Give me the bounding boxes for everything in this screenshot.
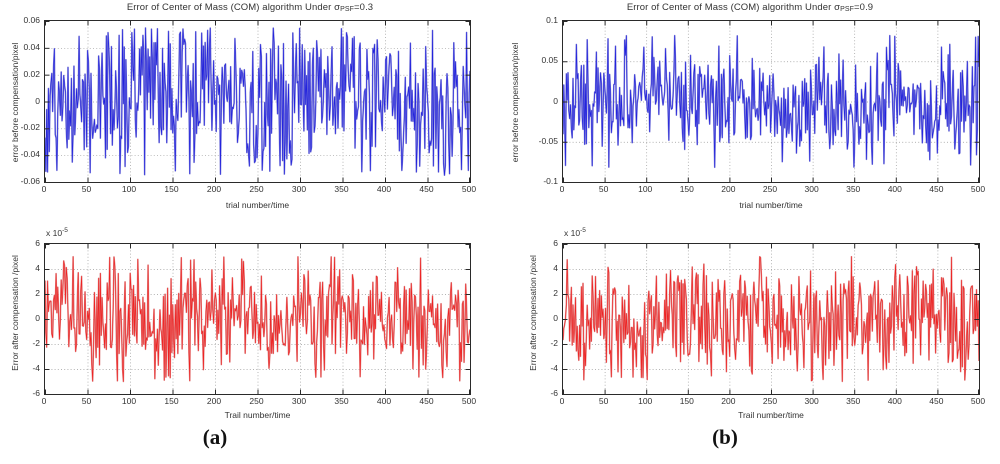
multiplier-exponent: -5 <box>580 227 586 234</box>
x-axis-label: trial number/time <box>562 200 980 210</box>
x-axis-label: Trail number/time <box>562 410 980 420</box>
plot-title: Error of Center of Mass (COM) algorithm … <box>500 2 1000 13</box>
y-tick-label: 0 <box>520 96 558 106</box>
y-tick-label: 4 <box>520 263 558 273</box>
y-tick-label: -4 <box>2 363 40 373</box>
plot-axes <box>562 243 980 395</box>
x-tick-label: 250 <box>249 396 263 406</box>
x-tick-label: 0 <box>42 396 47 406</box>
y-tick-label: -0.02 <box>2 122 40 132</box>
x-tick-label: 500 <box>462 184 476 194</box>
x-tick-label: 200 <box>721 184 735 194</box>
panel-top-left: Error of Center of Mass (COM) algorithm … <box>0 0 500 215</box>
x-axis-label: Trail number/time <box>44 410 471 420</box>
x-tick-label: 300 <box>292 184 306 194</box>
plot-canvas <box>563 244 979 394</box>
x-tick-label: 50 <box>599 184 608 194</box>
data-trace-halo <box>45 257 470 382</box>
x-tick-label: 350 <box>334 396 348 406</box>
y-axis-multiplier: x 10-5 <box>564 227 586 238</box>
y-tick-label: 6 <box>520 238 558 248</box>
plot-axes <box>44 243 471 395</box>
x-tick-label: 400 <box>377 396 391 406</box>
plot-axes <box>44 20 471 183</box>
x-tick-label: 200 <box>207 396 221 406</box>
sigma-subscript: PSF <box>840 6 854 13</box>
panel-bottom-left: x 10-5 Error after compensation /pixel T… <box>0 215 500 425</box>
x-tick-label: 400 <box>888 396 902 406</box>
y-tick-label: -6 <box>2 388 40 398</box>
x-tick-label: 250 <box>763 184 777 194</box>
plot-title-text: Error of Center of Mass (COM) algorithm … <box>627 2 834 13</box>
x-tick-label: 450 <box>929 396 943 406</box>
x-tick-label: 350 <box>334 184 348 194</box>
y-tick-label: 0 <box>2 313 40 323</box>
sigma-value: =0.3 <box>354 2 373 13</box>
figure-root: Error of Center of Mass (COM) algorithm … <box>0 0 1000 464</box>
y-tick-label: 2 <box>2 288 40 298</box>
panel-bottom-right: x 10-5 Error after compensation /pixel T… <box>500 215 1000 425</box>
x-tick-label: 450 <box>419 184 433 194</box>
x-tick-label: 200 <box>721 396 735 406</box>
y-tick-label: -4 <box>520 363 558 373</box>
x-tick-label: 0 <box>42 184 47 194</box>
multiplier-text: x 10 <box>564 228 580 238</box>
y-tick-label: 2 <box>520 288 558 298</box>
y-axis-label: error before compensation/pixel <box>510 20 520 185</box>
x-tick-label: 500 <box>971 396 985 406</box>
y-tick-label: -0.1 <box>520 176 558 186</box>
y-axis-multiplier: x 10-5 <box>46 227 68 238</box>
y-tick-label: 0.02 <box>2 69 40 79</box>
x-tick-label: 100 <box>638 184 652 194</box>
multiplier-exponent: -5 <box>62 227 68 234</box>
y-tick-label: -6 <box>520 388 558 398</box>
x-tick-label: 250 <box>249 184 263 194</box>
subcaption-b: (b) <box>695 425 755 450</box>
x-tick-label: 450 <box>929 184 943 194</box>
y-tick-label: -2 <box>520 338 558 348</box>
x-tick-label: 150 <box>680 396 694 406</box>
plot-canvas <box>563 21 979 182</box>
plot-title-text: Error of Center of Mass (COM) algorithm … <box>127 2 334 13</box>
x-tick-label: 200 <box>207 184 221 194</box>
plot-axes <box>562 20 980 183</box>
x-tick-label: 0 <box>560 396 565 406</box>
plot-canvas <box>45 244 470 394</box>
x-tick-label: 100 <box>122 184 136 194</box>
x-tick-label: 500 <box>971 184 985 194</box>
x-tick-label: 50 <box>82 184 91 194</box>
y-tick-label: 0 <box>520 313 558 323</box>
y-tick-label: -0.04 <box>2 149 40 159</box>
x-tick-label: 400 <box>377 184 391 194</box>
y-tick-label: 4 <box>2 263 40 273</box>
x-tick-label: 150 <box>164 184 178 194</box>
subcaption-a: (a) <box>185 425 245 450</box>
x-tick-label: 300 <box>292 396 306 406</box>
y-tick-label: -0.06 <box>2 176 40 186</box>
x-axis-label: trial number/time <box>44 200 471 210</box>
y-tick-label: 0.1 <box>520 15 558 25</box>
x-tick-label: 50 <box>599 396 608 406</box>
y-tick-label: 6 <box>2 238 40 248</box>
x-tick-label: 350 <box>846 396 860 406</box>
x-tick-label: 150 <box>164 396 178 406</box>
multiplier-text: x 10 <box>46 228 62 238</box>
x-tick-label: 300 <box>805 396 819 406</box>
y-tick-label: -2 <box>2 338 40 348</box>
x-tick-label: 100 <box>122 396 136 406</box>
sigma-subscript: PSF <box>340 6 354 13</box>
x-tick-label: 450 <box>419 396 433 406</box>
y-tick-label: 0.05 <box>520 55 558 65</box>
x-tick-label: 150 <box>680 184 694 194</box>
x-tick-label: 0 <box>560 184 565 194</box>
x-tick-label: 250 <box>763 396 777 406</box>
x-tick-label: 350 <box>846 184 860 194</box>
y-tick-label: 0.06 <box>2 15 40 25</box>
x-tick-label: 300 <box>805 184 819 194</box>
y-tick-label: 0 <box>2 96 40 106</box>
x-tick-label: 50 <box>82 396 91 406</box>
panel-top-right: Error of Center of Mass (COM) algorithm … <box>500 0 1000 215</box>
y-tick-label: -0.05 <box>520 136 558 146</box>
sigma-value: =0.9 <box>854 2 873 13</box>
plot-canvas <box>45 21 470 182</box>
plot-title: Error of Center of Mass (COM) algorithm … <box>0 2 500 13</box>
y-tick-label: 0.04 <box>2 42 40 52</box>
x-tick-label: 500 <box>462 396 476 406</box>
x-tick-label: 100 <box>638 396 652 406</box>
x-tick-label: 400 <box>888 184 902 194</box>
